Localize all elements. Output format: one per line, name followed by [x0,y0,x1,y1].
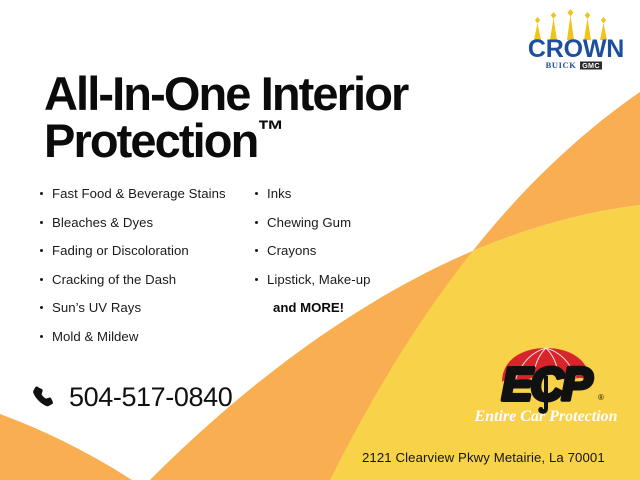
brand-tagline: Entire Car Protection [473,408,617,425]
headline-line-2: Protection [44,114,257,167]
list-item: Fast Food & Beverage Stains [38,186,258,201]
dealer-subtitle-gmc: GMC [582,61,600,70]
ecp-logo-svg: ECP ® Entire Car Protection [462,336,630,426]
dealer-wordmark: CROWN [528,35,624,63]
list-item: Crayons [253,243,443,258]
address-text: 2121 Clearview Pkwy Metairie, La 70001 [362,450,605,465]
registered-mark: ® [598,393,604,402]
list-item: Chewing Gum [253,215,443,230]
phone-contact[interactable]: 504-517-0840 [30,382,232,413]
feature-column-left: Fast Food & Beverage Stains Bleaches & D… [38,186,258,357]
brand-monogram: ECP [502,358,593,410]
crown-logo-svg: CROWN BUICK GMC [524,6,628,72]
promotional-flyer: CROWN BUICK GMC All-In-One InteriorProte… [0,0,640,480]
brand-logo: ECP ® Entire Car Protection [462,336,630,426]
dealer-subtitle-buick: BUICK [546,60,577,70]
list-item: Cracking of the Dash [38,272,258,287]
trademark-symbol: ™ [257,115,283,145]
phone-number[interactable]: 504-517-0840 [69,382,232,413]
orange-corner-wedge [0,414,132,480]
page-title: All-In-One InteriorProtection™ [44,71,514,163]
dealer-logo: CROWN BUICK GMC [524,6,628,72]
list-item: Sun’s UV Rays [38,300,258,315]
more-label: and MORE! [253,300,443,315]
list-item: Fading or Discoloration [38,243,258,258]
phone-icon [30,384,57,411]
list-item: Bleaches & Dyes [38,215,258,230]
list-item: Mold & Mildew [38,329,258,344]
feature-column-right: Inks Chewing Gum Crayons Lipstick, Make-… [253,186,443,315]
list-item: Lipstick, Make-up [253,272,443,287]
list-item: Inks [253,186,443,201]
headline-line-1: All-In-One Interior [44,67,407,120]
